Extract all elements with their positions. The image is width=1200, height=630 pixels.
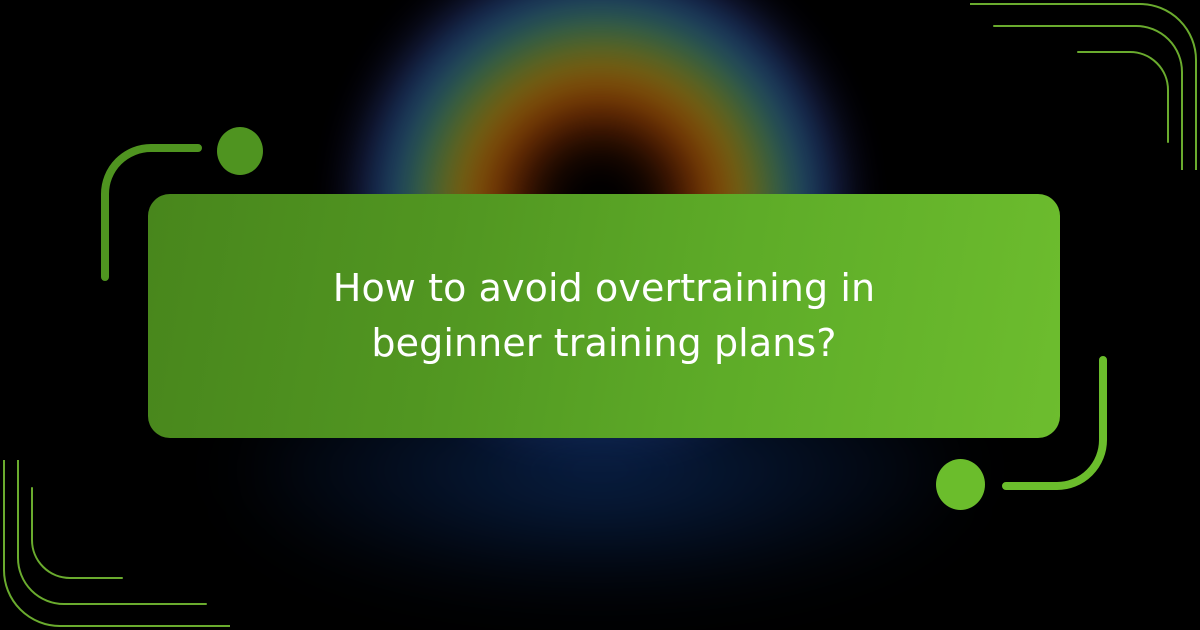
accent-dot-bottom-right	[936, 459, 985, 510]
corner-frame-top-right	[970, 0, 1200, 170]
headline-card: How to avoid overtraining in beginner tr…	[148, 194, 1060, 438]
corner-frame-bottom-left	[0, 460, 230, 630]
poster-canvas: How to avoid overtraining in beginner tr…	[0, 0, 1200, 630]
accent-dot-top-left	[217, 127, 263, 175]
page-title: How to avoid overtraining in beginner tr…	[264, 261, 944, 372]
